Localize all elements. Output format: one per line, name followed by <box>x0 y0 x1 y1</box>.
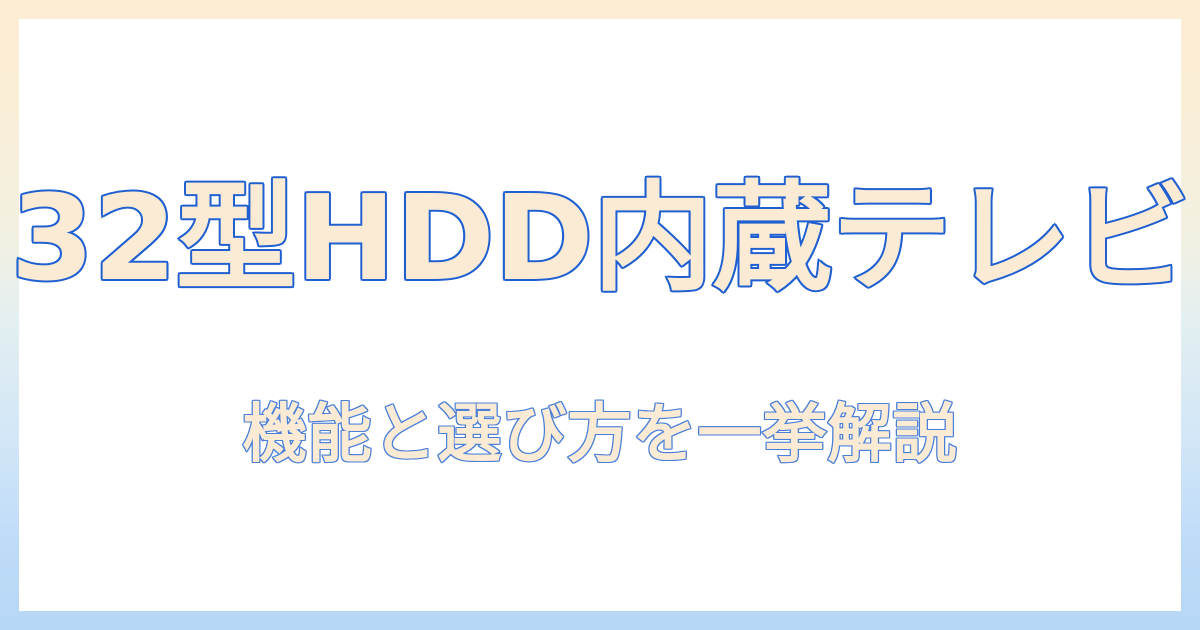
page-title: 32型HDD内蔵テレビ <box>11 169 1190 308</box>
title-block: 32型HDD内蔵テレビ <box>19 169 1181 308</box>
page-subtitle: 機能と選び方を一挙解説 <box>243 397 958 474</box>
banner-canvas: 32型HDD内蔵テレビ 機能と選び方を一挙解説 <box>19 19 1181 611</box>
eyecatch-banner: 32型HDD内蔵テレビ 機能と選び方を一挙解説 <box>0 0 1200 630</box>
subtitle-block: 機能と選び方を一挙解説 <box>19 397 1181 474</box>
